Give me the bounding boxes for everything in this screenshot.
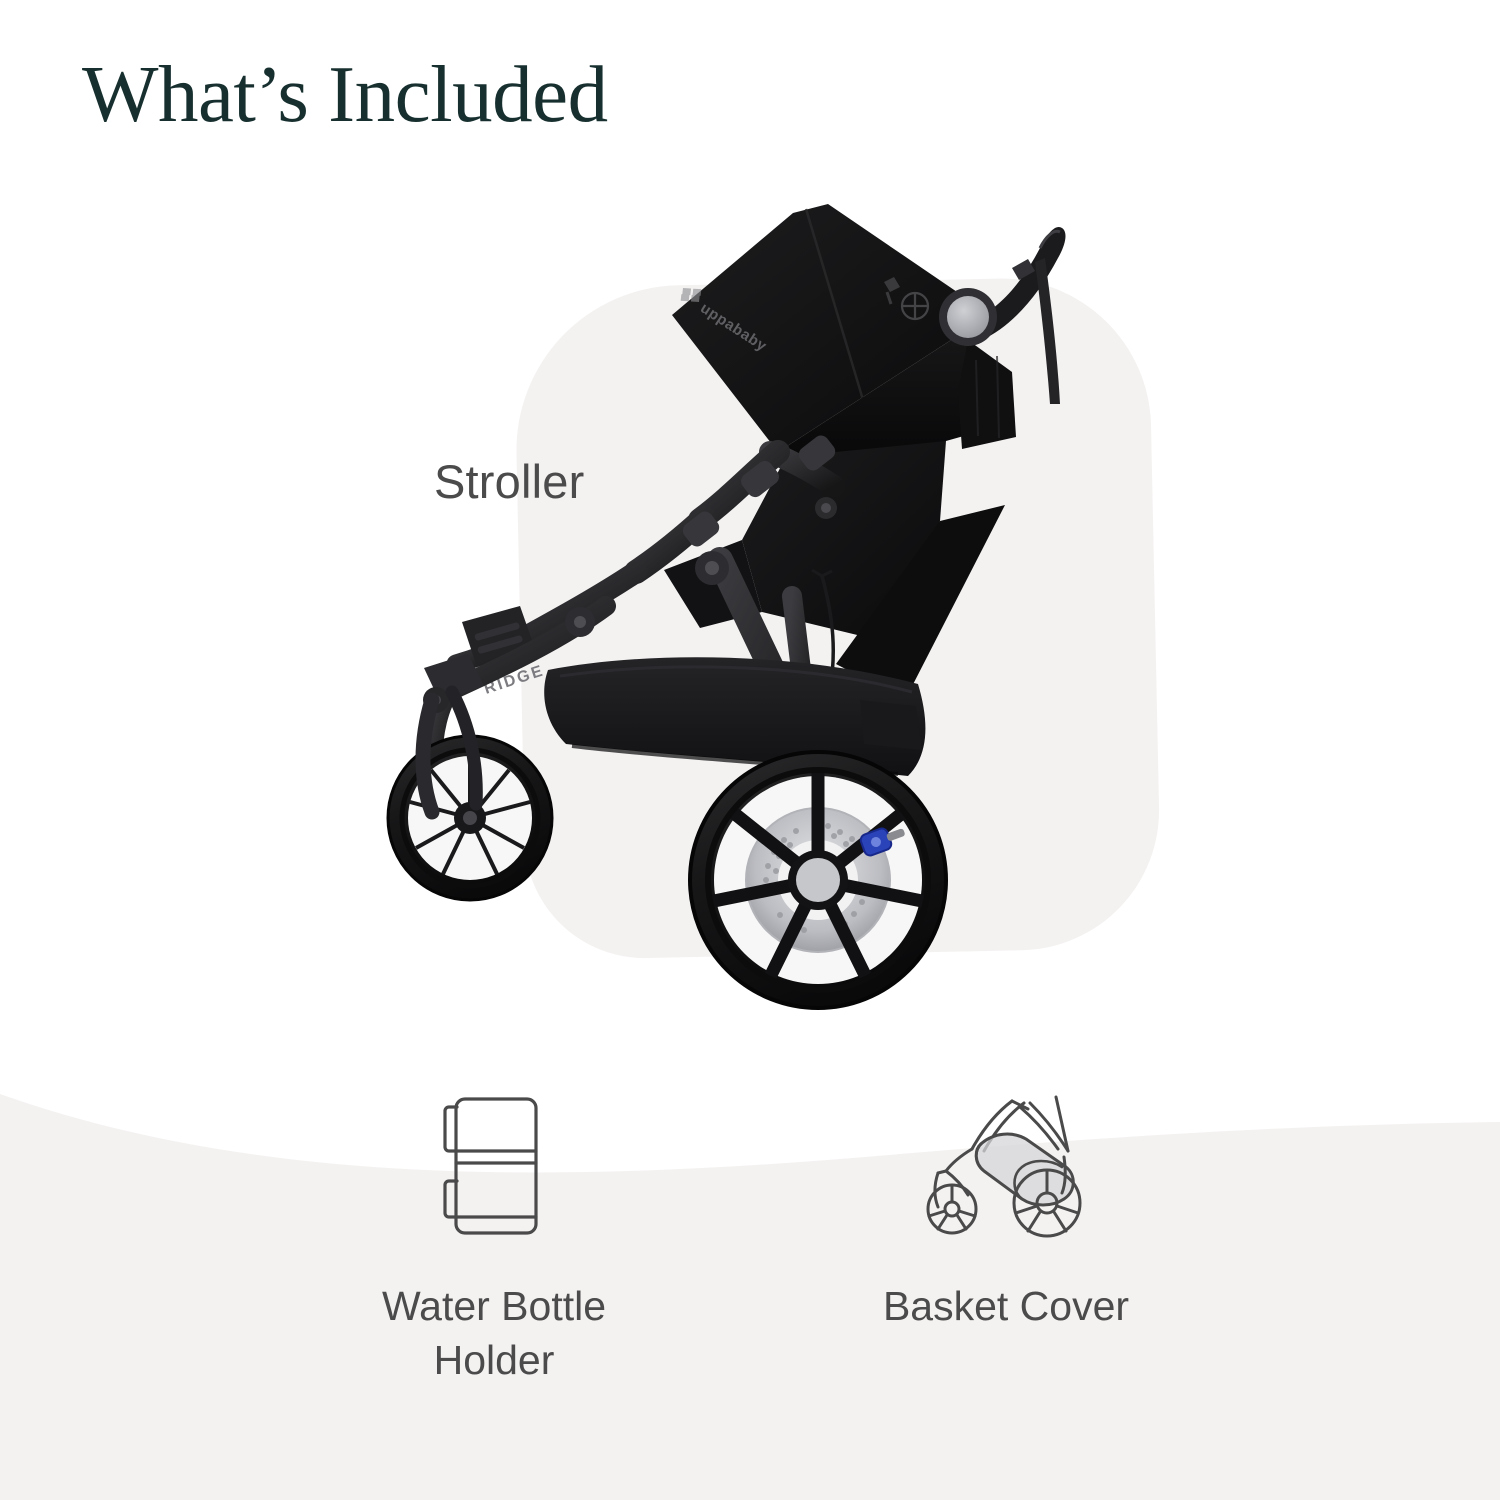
stroller-illustration: uppababy bbox=[0, 0, 1500, 1080]
accessory-water-bottle-holder: Water Bottle Holder bbox=[329, 1085, 659, 1387]
accessories-list: Water Bottle Holder bbox=[0, 1085, 1500, 1445]
stroller-label: Stroller bbox=[434, 454, 584, 509]
water-bottle-holder-icon bbox=[419, 1085, 569, 1245]
basket-cover-icon bbox=[916, 1085, 1096, 1245]
accessory-label: Water Bottle Holder bbox=[344, 1279, 644, 1387]
accessory-label: Basket Cover bbox=[883, 1279, 1129, 1333]
whats-included-infographic: What’s Included bbox=[0, 0, 1500, 1500]
accessory-basket-cover: Basket Cover bbox=[841, 1085, 1171, 1333]
